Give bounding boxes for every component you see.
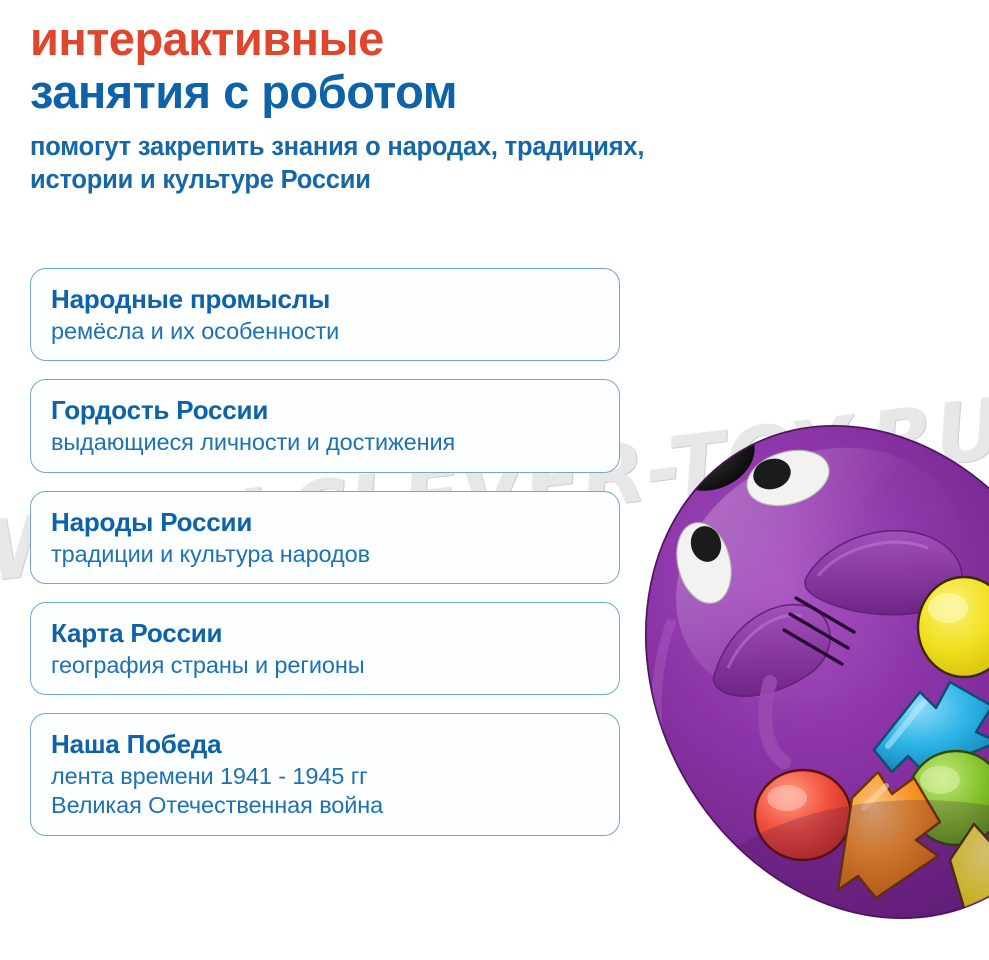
feature-card-peoples-of-russia[interactable]: Народы России традиции и культура народо… <box>30 491 620 584</box>
feature-card-list: Народные промыслы ремёсла и их особеннос… <box>30 268 620 854</box>
card-title: Народы России <box>51 508 599 537</box>
card-subtitle: ремёсла и их особенности <box>51 317 599 345</box>
card-title: Карта России <box>51 619 599 648</box>
headline-block: интерактивные занятия с роботом помогут … <box>30 14 730 197</box>
card-subtitle: выдающиеся личности и достижения <box>51 428 599 456</box>
product-banner: интерактивные занятия с роботом помогут … <box>0 0 989 960</box>
card-subtitle: традиции и культура народов <box>51 540 599 568</box>
subheadline-line-1: помогут закрепить знания о народах, трад… <box>30 131 730 164</box>
card-subtitle: лента времени 1941 - 1945 гг <box>51 762 599 790</box>
card-title: Гордость России <box>51 396 599 425</box>
headline-primary: интерактивные <box>30 14 730 64</box>
subheadline-line-2: истории и культуре России <box>30 164 730 197</box>
card-subtitle: география страны и регионы <box>51 651 599 679</box>
card-title: Народные промыслы <box>51 285 599 314</box>
card-title: Наша Победа <box>51 730 599 759</box>
feature-card-folk-crafts[interactable]: Народные промыслы ремёсла и их особеннос… <box>30 268 620 361</box>
feature-card-pride-of-russia[interactable]: Гордость России выдающиеся личности и до… <box>30 379 620 472</box>
feature-card-our-victory[interactable]: Наша Победа лента времени 1941 - 1945 гг… <box>30 713 620 835</box>
toy-product-image <box>620 420 989 960</box>
card-subtitle-second-line: Великая Отечественная война <box>51 791 599 819</box>
feature-card-map-of-russia[interactable]: Карта России география страны и регионы <box>30 602 620 695</box>
headline-secondary: занятия с роботом <box>30 66 730 119</box>
subheadline-block: помогут закрепить знания о народах, трад… <box>30 131 730 196</box>
